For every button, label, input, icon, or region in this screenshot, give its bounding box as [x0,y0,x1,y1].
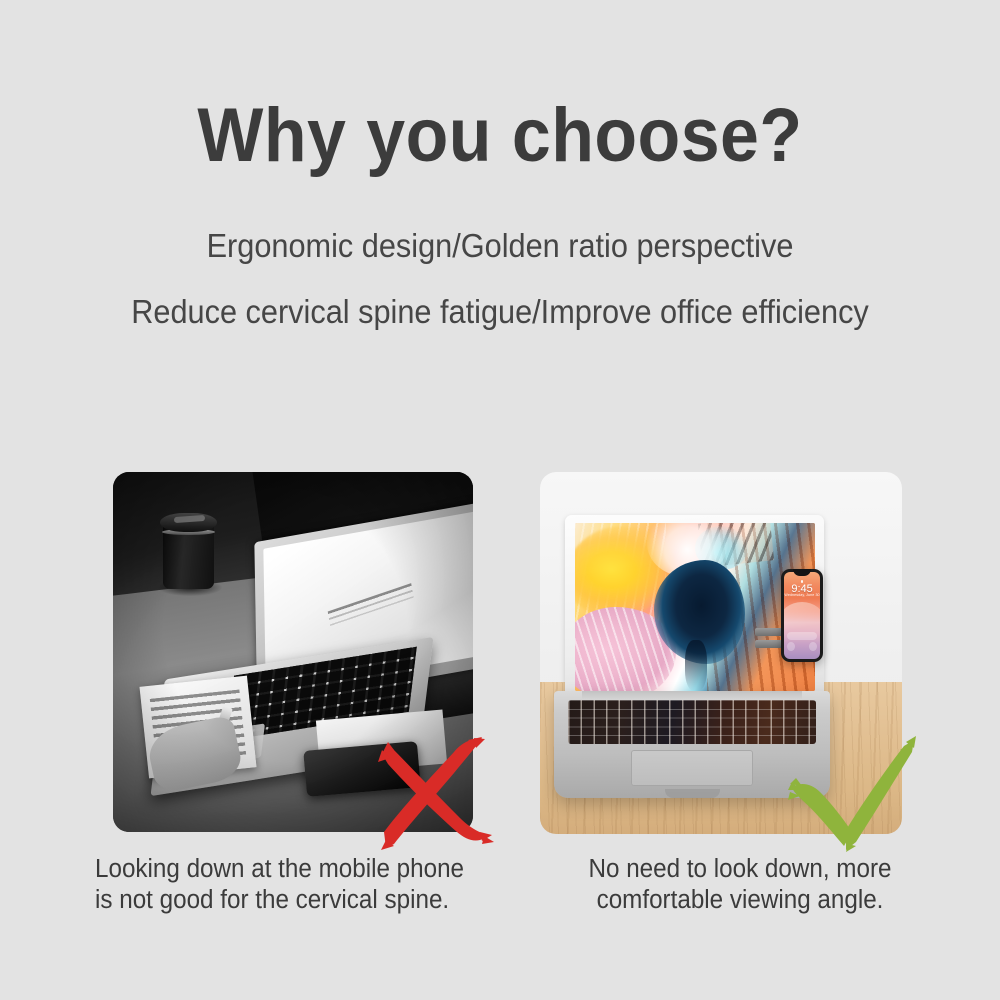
laptop-hinge [582,691,802,701]
screen-gloss [575,523,815,691]
laptop-base-notch [665,789,720,798]
caption-positive-line-1: No need to look down, more [550,854,930,885]
caption-negative-line-2: is not good for the cervical spine. [95,885,504,916]
subtitle-line-1: Ergonomic design/Golden ratio perspectiv… [35,226,965,266]
camera-icon [809,642,817,652]
phone-notification [787,632,816,640]
laptop-screen-wallpaper [575,523,815,691]
laptop-keyboard [568,700,816,744]
caption-negative-line-1: Looking down at the mobile phone [95,854,504,885]
laptop-trackpad [631,750,752,786]
lock-icon [801,580,804,583]
photo-negative-example [113,472,473,832]
photo-vignette [113,472,473,832]
subtitle-line-2: Reduce cervical spine fatigue/Improve of… [35,292,965,332]
phone-date: Wednesday, June 30 [784,593,821,598]
laptop-positive: 9:45 Wednesday, June 30 [554,515,829,797]
page-title: Why you choose? [40,96,960,176]
mounted-mobile-phone: 9:45 Wednesday, June 30 [781,569,822,662]
photo-positive-example: 9:45 Wednesday, June 30 [540,472,902,834]
caption-negative: Looking down at the mobile phone is not … [95,854,504,916]
caption-positive-line-2: comfortable viewing angle. [550,885,930,916]
poster-canvas: Why you choose? Ergonomic design/Golden … [0,0,1000,1000]
flashlight-icon [787,642,795,652]
phone-lock-screen: 9:45 Wednesday, June 30 [784,572,821,659]
caption-positive: No need to look down, more comfortable v… [550,854,930,916]
laptop-base [554,691,829,798]
phone-button-row [787,642,818,652]
